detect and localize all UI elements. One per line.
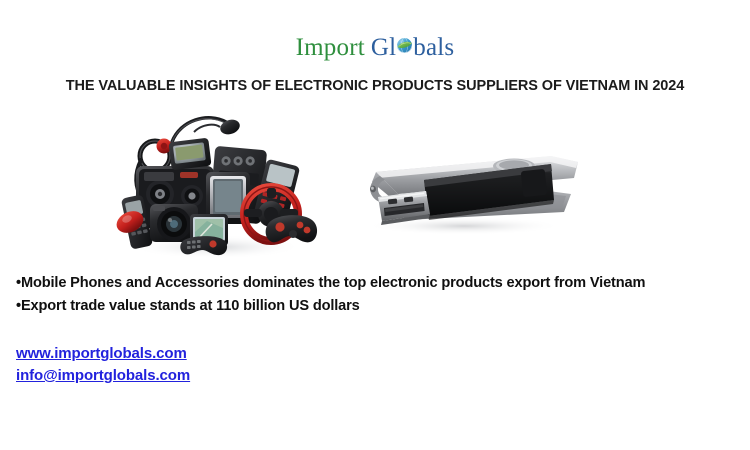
logo-text-bals: bals: [413, 34, 454, 62]
bullet-list: •Mobile Phones and Accessories dominates…: [16, 272, 740, 318]
website-link[interactable]: www.importglobals.com: [16, 343, 190, 365]
list-item-text: Mobile Phones and Accessories dominates …: [21, 275, 645, 291]
page-title: THE VALUABLE INSIGHTS OF ELECTRONIC PROD…: [0, 76, 750, 96]
usb-flash-drive-image: [336, 142, 586, 238]
globe-icon: [396, 37, 413, 54]
list-item-text: Export trade value stands at 110 billion…: [21, 298, 360, 314]
list-item: •Mobile Phones and Accessories dominates…: [16, 272, 740, 295]
logo-text-gl: Gl: [371, 34, 396, 62]
electronics-collage-image: [108, 104, 323, 262]
logo-text-import: Import: [296, 34, 365, 62]
email-link[interactable]: info@importglobals.com: [16, 365, 190, 387]
slide-canvas: ImportGl: [0, 0, 750, 450]
brand-logo: ImportGl: [0, 34, 750, 62]
contact-links: www.importglobals.com info@importglobals…: [16, 343, 190, 387]
list-item: •Export trade value stands at 110 billio…: [16, 295, 740, 318]
